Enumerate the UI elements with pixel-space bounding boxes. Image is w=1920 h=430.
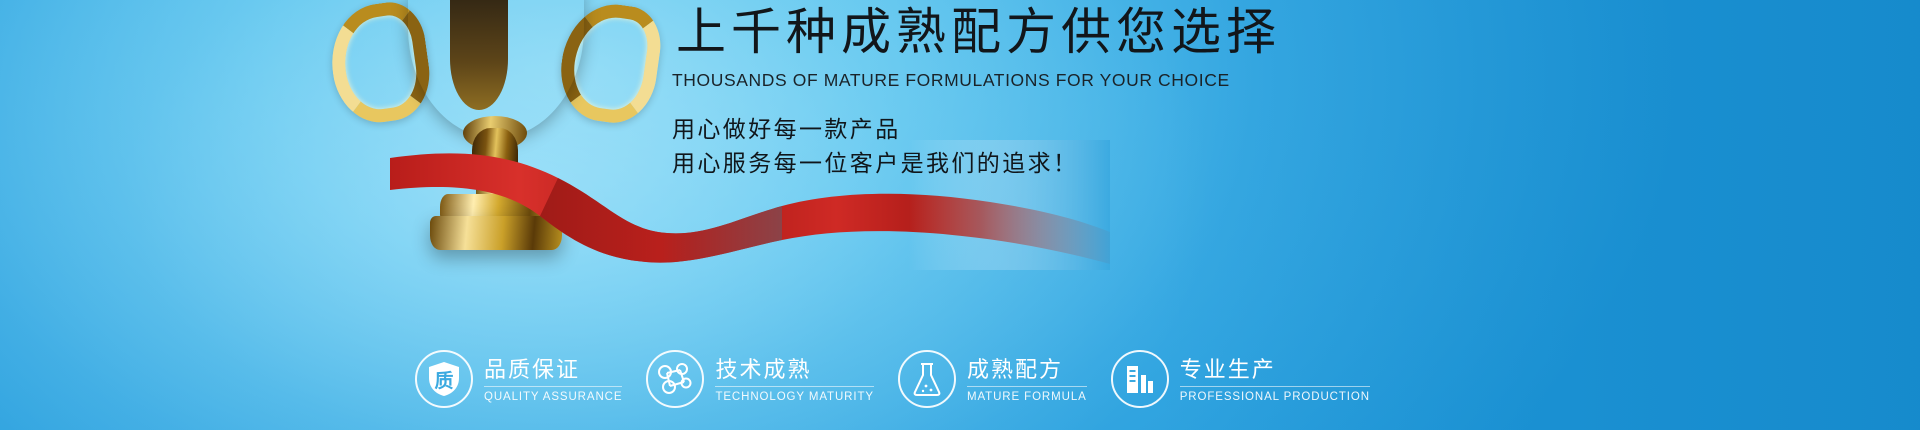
flask-formula-icon xyxy=(898,350,956,408)
feature-technology-label-en: TECHNOLOGY MATURITY xyxy=(715,387,874,403)
feature-formula-label-cn: 成熟配方 xyxy=(967,357,1087,386)
feature-quality-assurance: 质 品质保证 QUALITY ASSURANCE xyxy=(415,346,622,412)
trophy-base-lower xyxy=(430,216,562,250)
feature-quality-label-en: QUALITY ASSURANCE xyxy=(484,387,622,403)
feature-technology-label-cn: 技术成熟 xyxy=(715,357,874,386)
banner-tagline-2-text: 用心服务每一位客户是我们的追求！ xyxy=(672,144,1078,178)
feature-formula-text: 成熟配方 MATURE FORMULA xyxy=(967,355,1087,402)
feature-mature-formula: 成熟配方 MATURE FORMULA xyxy=(898,346,1087,412)
trophy-icon xyxy=(330,0,660,278)
molecule-technology-icon xyxy=(646,350,704,408)
feature-production-label-en: PROFESSIONAL PRODUCTION xyxy=(1180,387,1370,403)
trophy-cup-shadow xyxy=(450,0,508,110)
banner-headline: 上千种成熟配方供您选择 xyxy=(676,6,1281,59)
feature-quality-text: 品质保证 QUALITY ASSURANCE xyxy=(484,355,622,402)
banner-subheadline: THOUSANDS OF MATURE FORMULATIONS FOR YOU… xyxy=(672,70,1230,91)
shield-quality-char: 质 xyxy=(434,366,453,393)
promo-banner: 上千种成熟配方供您选择 THOUSANDS OF MATURE FORMULAT… xyxy=(0,0,1920,430)
feature-production-text: 专业生产 PROFESSIONAL PRODUCTION xyxy=(1180,355,1370,402)
feature-professional-production: 专业生产 PROFESSIONAL PRODUCTION xyxy=(1111,346,1370,412)
banner-tagline-2: 用心服务每一位客户是我们的追求！ xyxy=(672,144,1078,178)
feature-quality-label-cn: 品质保证 xyxy=(484,357,622,386)
shield-quality-icon: 质 xyxy=(415,350,473,408)
banner-tagline-1-text: 用心做好每一款产品 xyxy=(672,110,901,144)
banner-tagline-1: 用心做好每一款产品 xyxy=(672,110,901,144)
feature-technology-text: 技术成熟 TECHNOLOGY MATURITY xyxy=(715,355,874,402)
feature-production-label-cn: 专业生产 xyxy=(1180,357,1370,386)
feature-technology-maturity: 技术成熟 TECHNOLOGY MATURITY xyxy=(646,346,874,412)
factory-production-icon xyxy=(1111,350,1169,408)
feature-badge-list: 质 品质保证 QUALITY ASSURANCE xyxy=(415,346,1235,412)
feature-formula-label-en: MATURE FORMULA xyxy=(967,387,1087,403)
